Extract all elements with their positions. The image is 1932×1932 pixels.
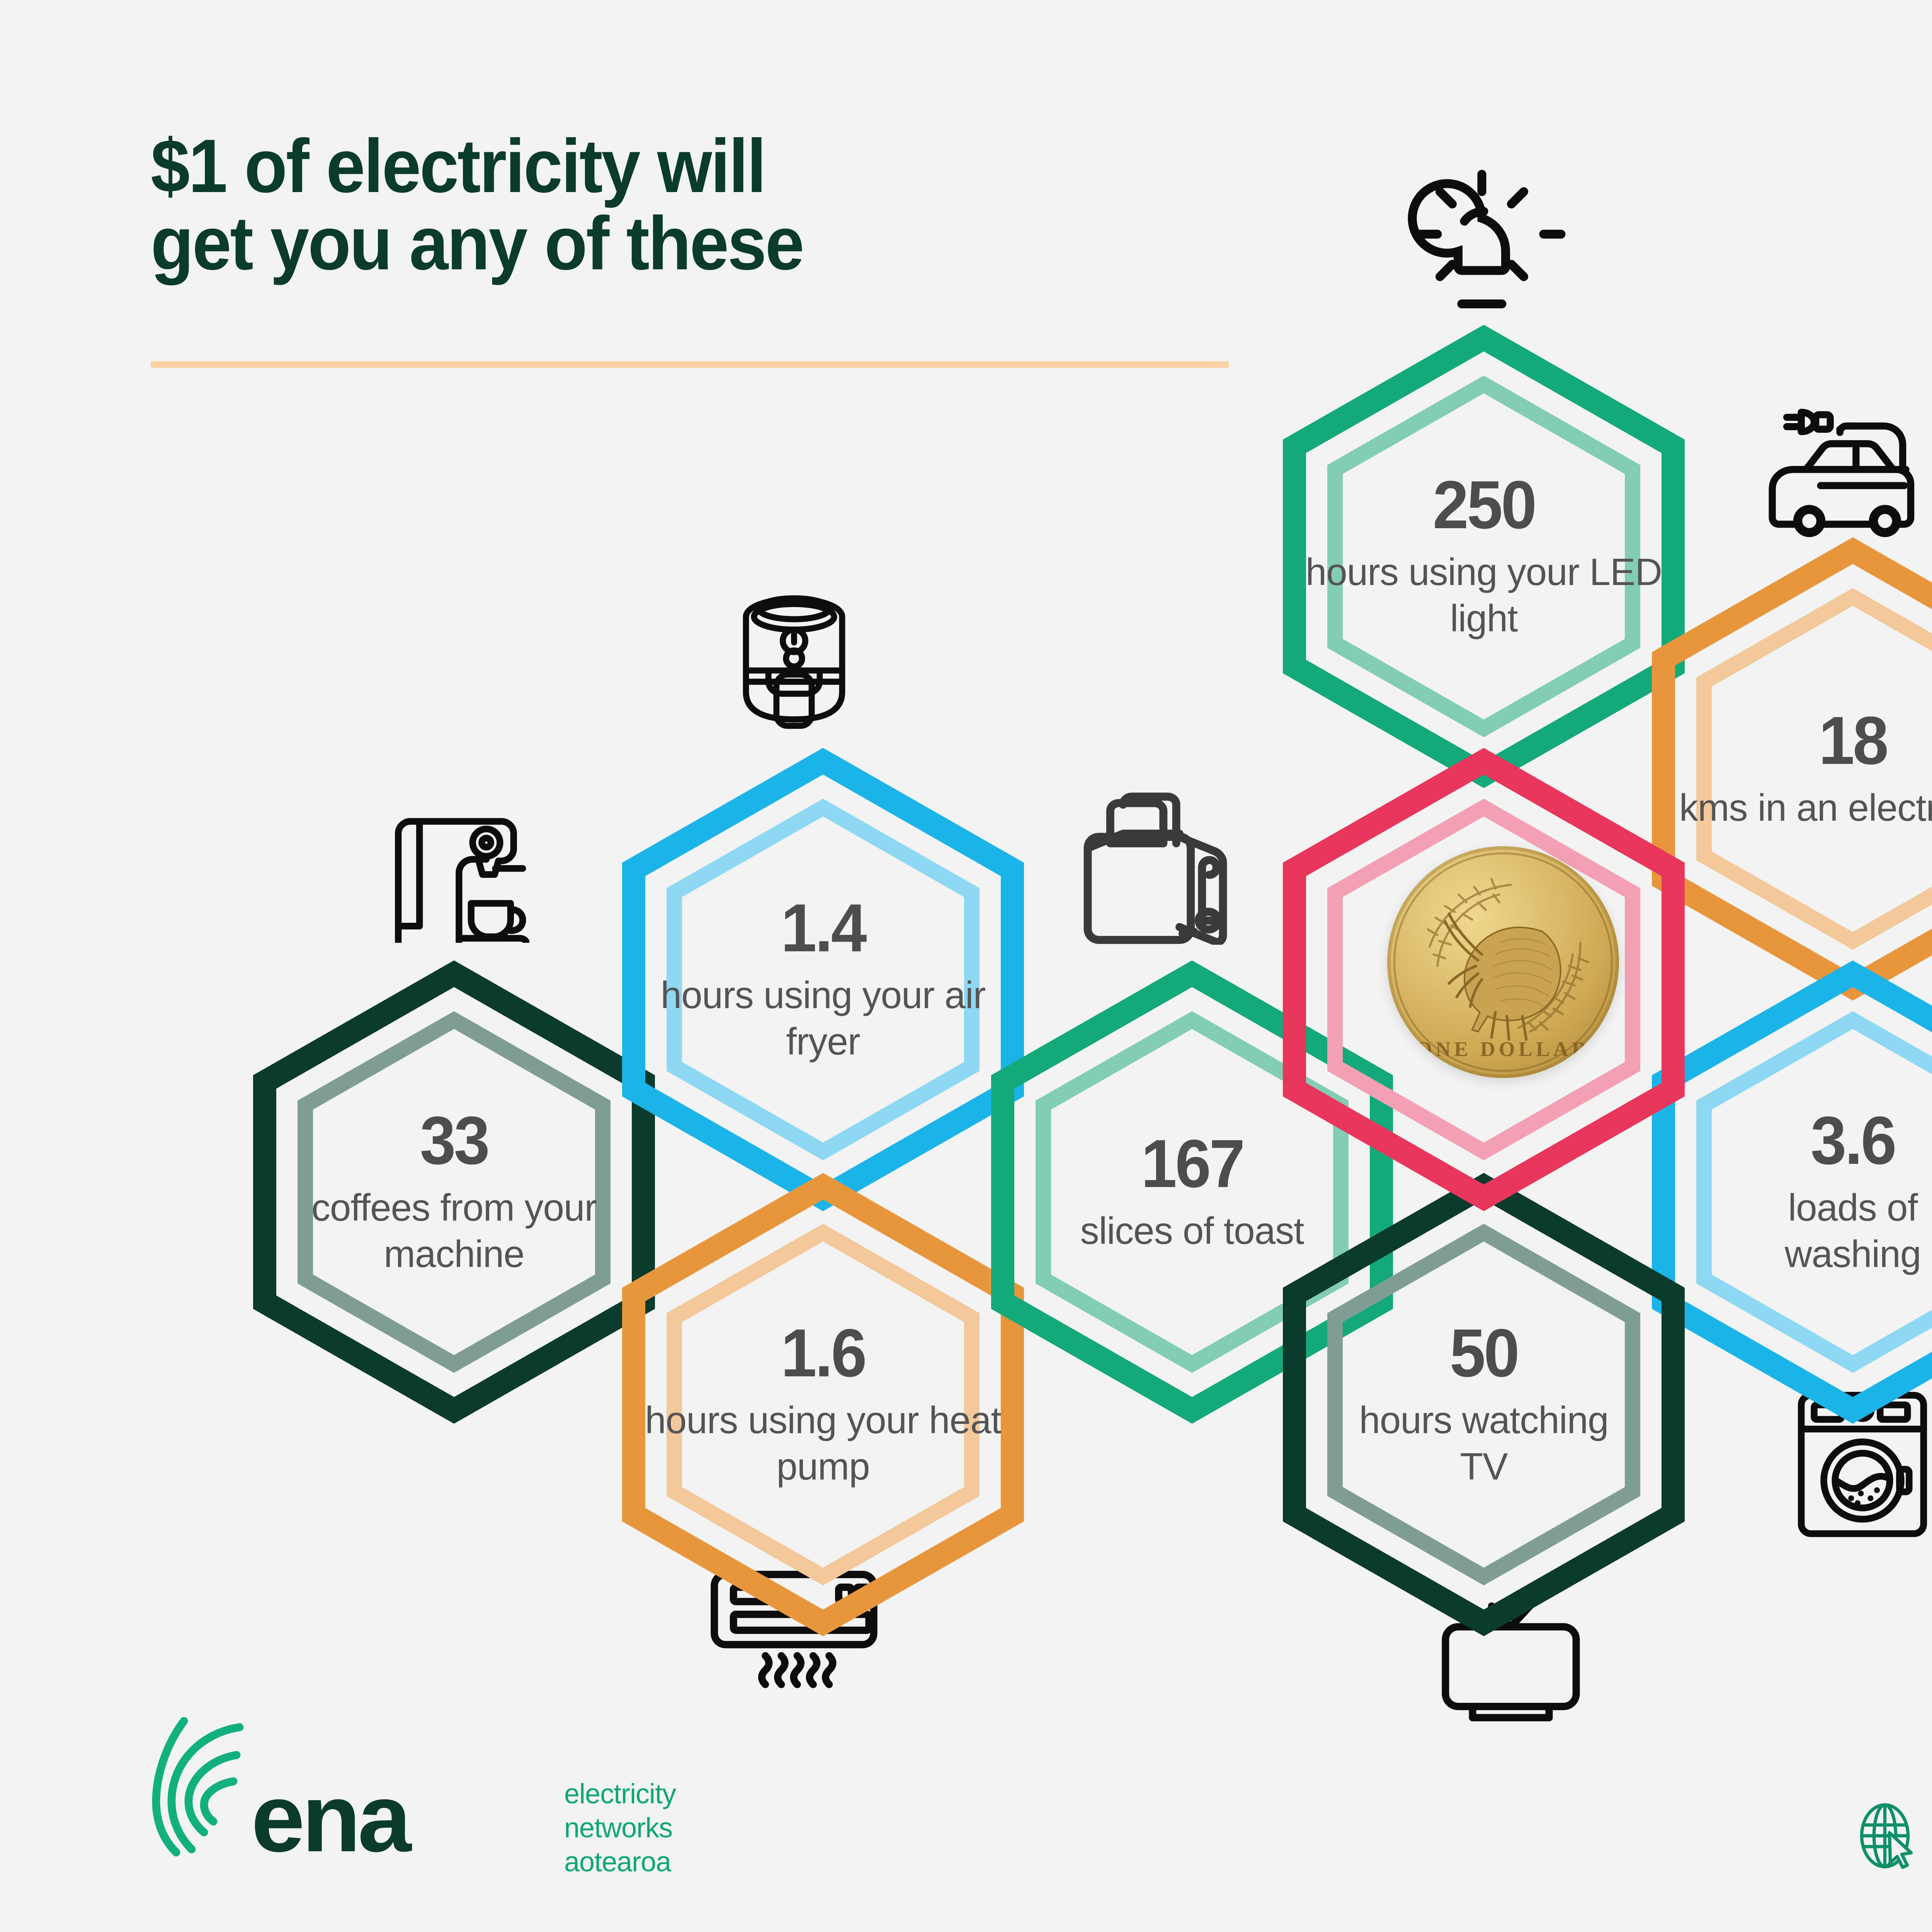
coin-legend: ONE DOLLAR <box>1387 1037 1619 1061</box>
ena-tagline: electricity networks aotearoa <box>564 1777 676 1879</box>
hex-heat-pump[interactable]: 1.6 hours using your heat pump <box>611 1175 1036 1634</box>
electric-car-icon <box>1762 402 1924 537</box>
air-fryer-icon <box>726 582 862 732</box>
title-line-2: get you any of these <box>151 205 1193 282</box>
title-underline-rule <box>151 361 1229 368</box>
title-line-1: $1 of electricity will <box>151 128 1193 205</box>
tagline-line-3: aotearoa <box>564 1845 676 1879</box>
ena-wordmark: ena <box>251 1770 408 1866</box>
hex-air-fryer[interactable]: 1.4 hours using your air fryer <box>611 750 1036 1209</box>
website-link[interactable]: ena.org.nz <box>1851 1799 1932 1878</box>
hex-coffee[interactable]: 33 coffees from your machine <box>241 962 667 1422</box>
one-dollar-coin: ONE DOLLAR <box>1387 846 1619 1078</box>
globe-cursor-icon <box>1851 1799 1928 1878</box>
hex-tv[interactable]: 50 hours watching TV <box>1271 1175 1696 1634</box>
hex-led-light[interactable]: 250 hours using your LED light <box>1271 327 1696 786</box>
toaster-icon <box>1074 790 1236 945</box>
infographic-canvas: $1 of electricity will get you any of th… <box>0 0 1932 1932</box>
lightbulb-icon <box>1391 166 1573 332</box>
ena-logo[interactable]: ena electricity networks aotearoa <box>147 1712 572 1878</box>
tagline-line-2: networks <box>564 1811 676 1845</box>
page-title: $1 of electricity will get you any of th… <box>151 128 1271 282</box>
coffee-machine-icon <box>383 815 529 943</box>
tagline-line-1: electricity <box>564 1777 676 1811</box>
